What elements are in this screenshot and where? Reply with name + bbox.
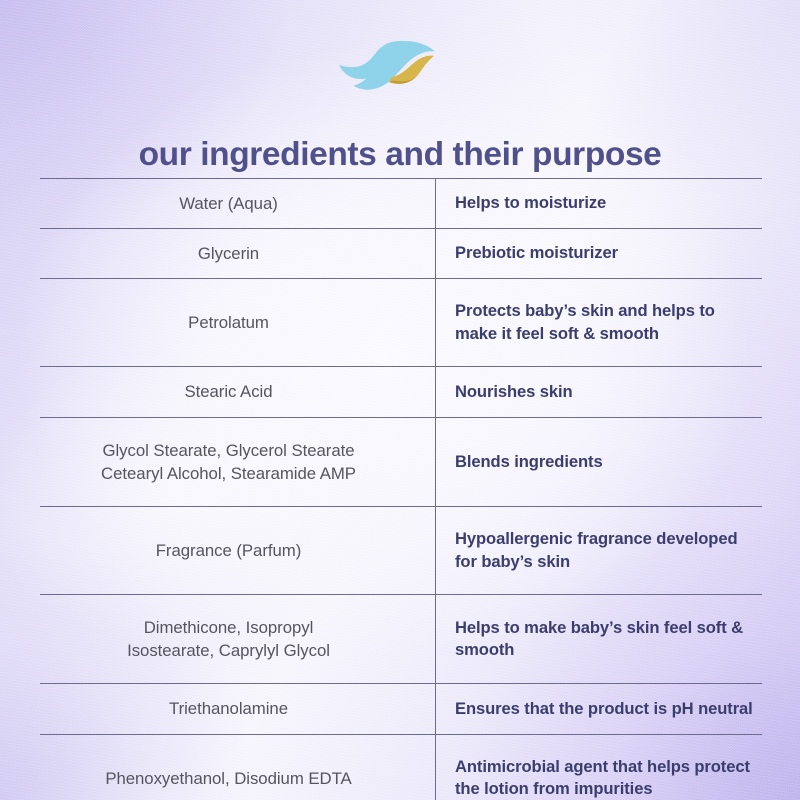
- ingredient-line: Isostearate, Caprylyl Glycol: [127, 641, 330, 660]
- ingredient-label: Glycol Stearate, Glycerol StearateCetear…: [101, 439, 356, 485]
- table-row: Dimethicone, IsopropylIsostearate, Capry…: [40, 595, 762, 684]
- table-row: Stearic Acid Nourishes skin: [40, 367, 762, 417]
- table-row: Fragrance (Parfum) Hypoallergenic fragra…: [40, 506, 762, 594]
- ingredient-cell: Dimethicone, IsopropylIsostearate, Capry…: [40, 595, 436, 684]
- ingredient-cell: Glycerin: [40, 229, 436, 279]
- ingredient-line: Dimethicone, Isopropyl: [144, 618, 314, 637]
- table-row: Phenoxyethanol, Disodium EDTA Antimicrob…: [40, 734, 762, 800]
- purpose-cell: Antimicrobial agent that helps protect t…: [436, 734, 763, 800]
- ingredient-label: Triethanolamine: [169, 697, 288, 720]
- ingredient-line: Glycol Stearate, Glycerol Stearate: [103, 441, 355, 460]
- ingredient-label: Fragrance (Parfum): [156, 539, 302, 562]
- ingredient-label: Glycerin: [198, 242, 259, 265]
- purpose-cell: Prebiotic moisturizer: [436, 229, 763, 279]
- table-row: Glycerin Prebiotic moisturizer: [40, 229, 762, 279]
- table-body: Water (Aqua) Helps to moisturize Glyceri…: [40, 179, 762, 800]
- purpose-cell: Helps to make baby’s skin feel soft & sm…: [436, 595, 763, 684]
- purpose-cell: Helps to moisturize: [436, 179, 763, 229]
- ingredient-cell: Water (Aqua): [40, 179, 436, 229]
- purpose-cell: Nourishes skin: [436, 367, 763, 417]
- ingredient-cell: Phenoxyethanol, Disodium EDTA: [40, 734, 436, 800]
- purpose-cell: Protects baby’s skin and helps to make i…: [436, 279, 763, 367]
- table-row: Triethanolamine Ensures that the product…: [40, 684, 762, 734]
- purpose-cell: Blends ingredients: [436, 417, 763, 506]
- table-row: Petrolatum Protects baby’s skin and help…: [40, 279, 762, 367]
- ingredient-cell: Triethanolamine: [40, 684, 436, 734]
- ingredient-cell: Glycol Stearate, Glycerol StearateCetear…: [40, 417, 436, 506]
- purpose-cell: Ensures that the product is pH neutral: [436, 684, 763, 734]
- ingredient-cell: Fragrance (Parfum): [40, 506, 436, 594]
- dove-bird-logo-icon: [338, 39, 462, 99]
- page-title: our ingredients and their purpose: [0, 136, 800, 174]
- ingredient-label: Stearic Acid: [184, 380, 272, 403]
- ingredient-label: Phenoxyethanol, Disodium EDTA: [105, 767, 351, 790]
- table-row: Water (Aqua) Helps to moisturize: [40, 179, 762, 229]
- page-root: our ingredients and their purpose Water …: [0, 0, 800, 800]
- brand-logo: [0, 38, 800, 100]
- ingredient-cell: Stearic Acid: [40, 367, 436, 417]
- ingredient-cell: Petrolatum: [40, 279, 436, 367]
- ingredient-label: Water (Aqua): [179, 192, 278, 215]
- ingredients-and-purpose-table: Water (Aqua) Helps to moisturize Glyceri…: [40, 178, 762, 800]
- ingredient-label: Dimethicone, IsopropylIsostearate, Capry…: [127, 616, 330, 662]
- ingredient-line: Cetearyl Alcohol, Stearamide AMP: [101, 464, 356, 483]
- page-content: our ingredients and their purpose Water …: [0, 0, 800, 800]
- purpose-cell: Hypoallergenic fragrance developed for b…: [436, 506, 763, 594]
- ingredient-label: Petrolatum: [188, 311, 269, 334]
- table-row: Glycol Stearate, Glycerol StearateCetear…: [40, 417, 762, 506]
